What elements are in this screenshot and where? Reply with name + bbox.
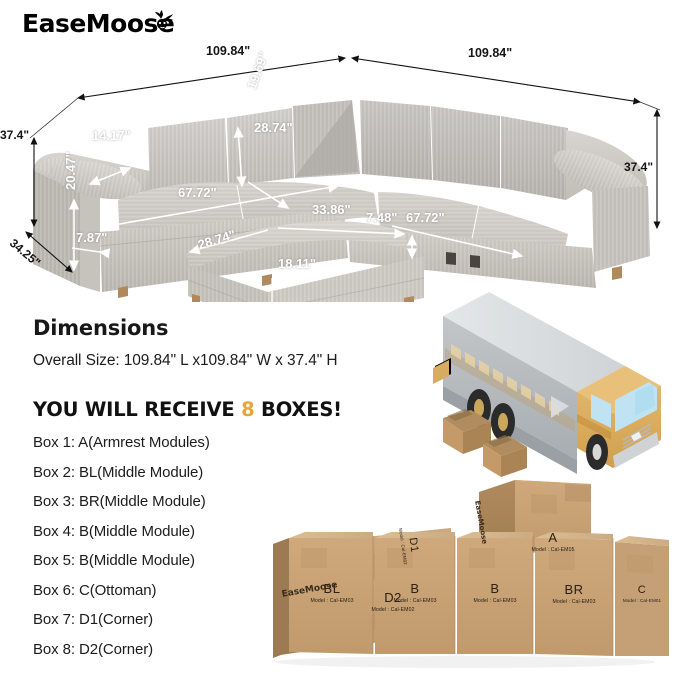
dimensions-heading: Dimensions <box>33 316 363 340</box>
boxes-heading-suffix: BOXES! <box>254 398 341 421</box>
sofa-dimension-diagram: 109.84" 109.84" 37.4" 37.4" 34.25" 19.69… <box>0 40 679 302</box>
overall-size-text: Overall Size: 109.84" L x109.84" W x 37.… <box>33 352 363 370</box>
carton-stack-illustration: A Model : Cal-EM05 BL Model : Cal-EM03 B… <box>265 478 679 670</box>
sofa-illustration <box>0 40 679 302</box>
moose-head-icon <box>148 10 178 36</box>
brand-logo: EaseMoose <box>22 8 174 38</box>
boxes-count: 8 <box>241 398 254 421</box>
truck-svg <box>399 288 679 488</box>
list-item: Box 1: A(Armrest Modules) <box>33 435 363 450</box>
boxes-heading: YOU WILL RECEIVE 8 BOXES! <box>33 398 363 421</box>
carton-stack-svg <box>265 478 679 670</box>
boxes-heading-prefix: YOU WILL RECEIVE <box>33 398 241 421</box>
delivery-truck-illustration <box>399 288 679 488</box>
